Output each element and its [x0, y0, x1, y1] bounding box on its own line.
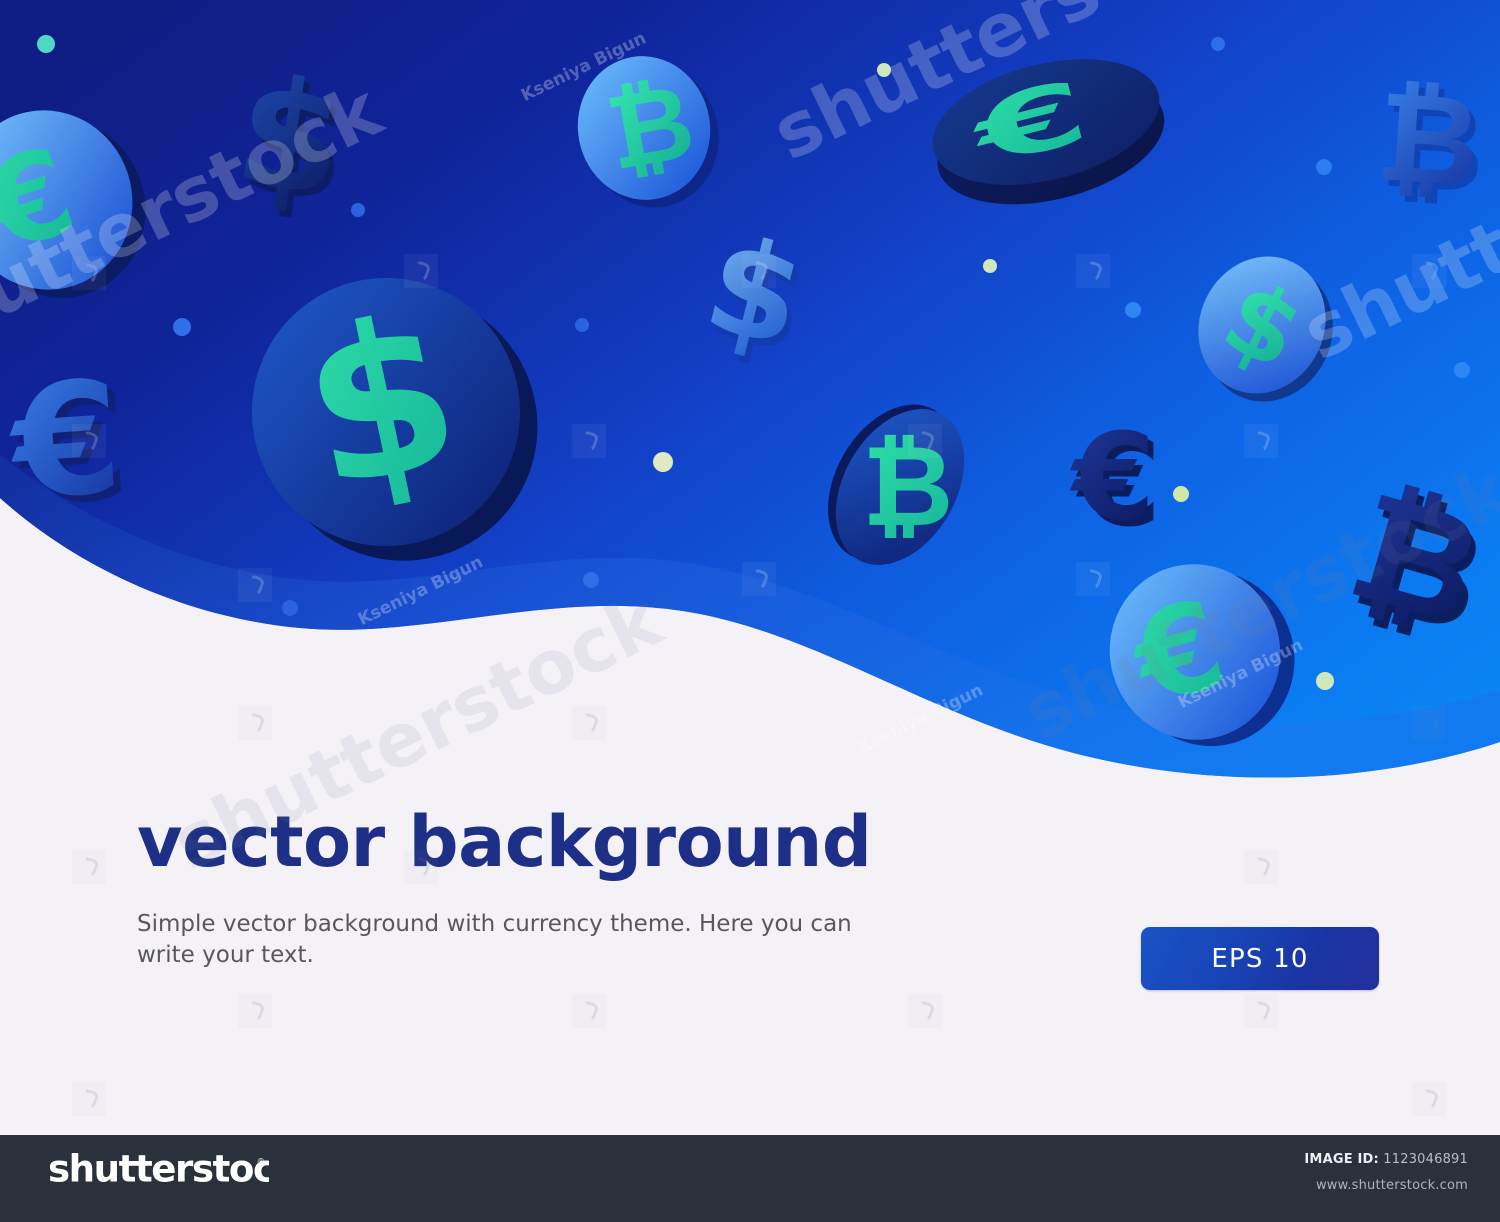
- watermark-mark: [572, 994, 606, 1028]
- screenshot-root: $ $ € € $ $ ₿ ₿ € €: [0, 0, 1500, 1222]
- svg-text:€: €: [4, 347, 127, 535]
- shutterstock-logo-text: shutterstock: [48, 1150, 269, 1190]
- watermark-mark: [238, 994, 272, 1028]
- registered-trademark-icon: ®: [257, 1157, 266, 1167]
- eps-10-button[interactable]: EPS 10: [1141, 927, 1379, 990]
- watermark-mark: [1244, 994, 1278, 1028]
- image-id-value: 1123046891: [1383, 1152, 1468, 1167]
- svg-text:₿: ₿: [862, 422, 953, 552]
- artboard: $ $ € € $ $ ₿ ₿ € €: [0, 0, 1500, 1135]
- image-id: IMAGE ID: 1123046891: [1304, 1152, 1468, 1167]
- watermark-mark: [72, 850, 106, 884]
- site-url: www.shutterstock.com: [1304, 1178, 1468, 1193]
- image-id-label: IMAGE ID:: [1304, 1152, 1379, 1167]
- page-title: vector background: [137, 805, 917, 879]
- symbol-bitcoin-topright: ₿ ₿: [1372, 64, 1490, 222]
- symbol-euro-right: € €: [1069, 409, 1162, 554]
- watermark-mark: [72, 1082, 106, 1116]
- watermark-mark: [1244, 850, 1278, 884]
- blue-wave-background: $ $ € € $ $ ₿ ₿ € €: [0, 0, 1500, 800]
- shutterstock-logo: shutterstock ®: [48, 1150, 269, 1190]
- footer-meta: IMAGE ID: 1123046891 www.shutterstock.co…: [1304, 1152, 1468, 1193]
- svg-text:₿: ₿: [1372, 64, 1484, 216]
- svg-text:€: €: [1069, 409, 1156, 548]
- symbol-euro-left: € €: [4, 346, 135, 542]
- hero-text-block: vector background Simple vector backgrou…: [137, 805, 917, 971]
- hero-subtitle: Simple vector background with currency t…: [137, 909, 877, 971]
- watermark-mark: [908, 994, 942, 1028]
- watermark-mark: [1412, 1082, 1446, 1116]
